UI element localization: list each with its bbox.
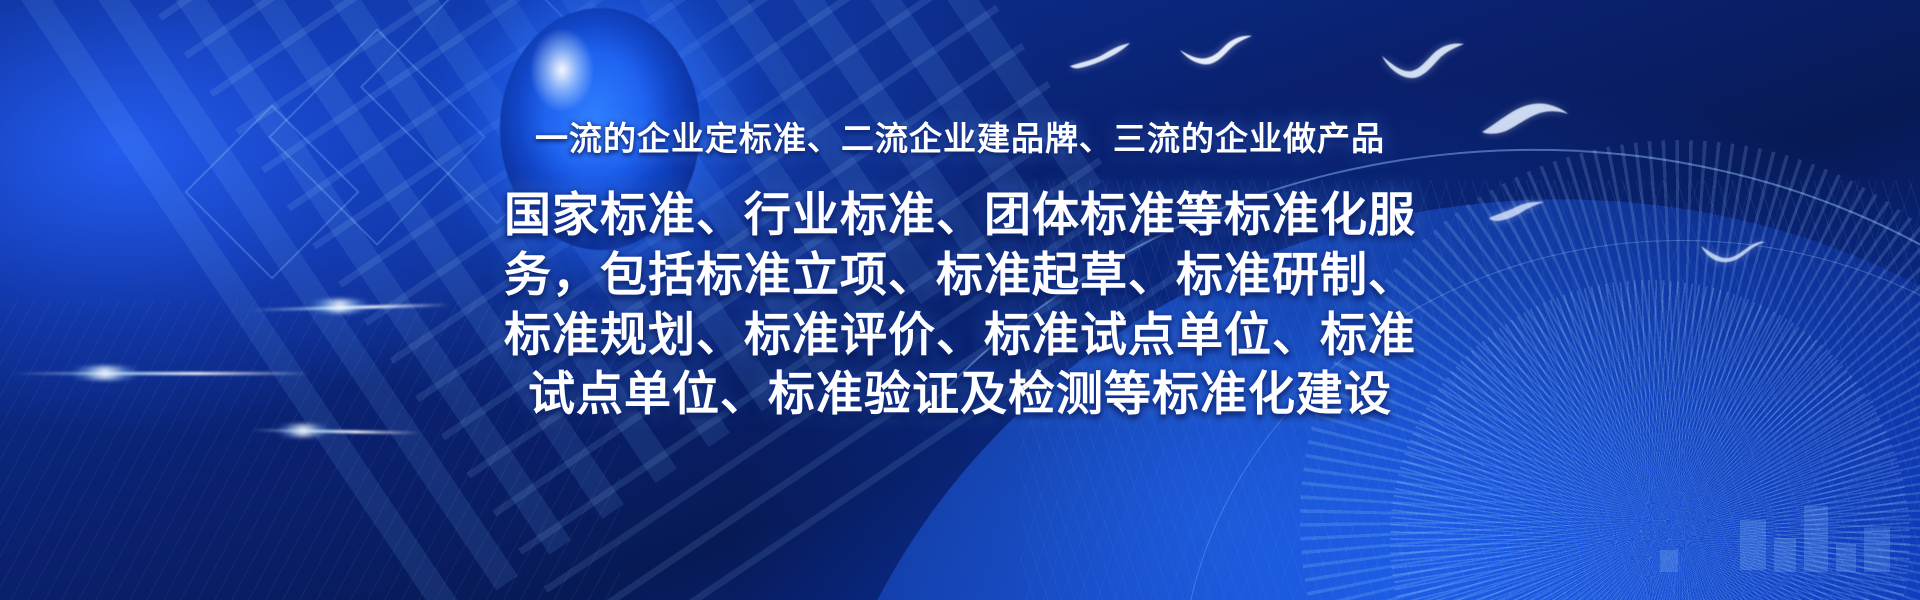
headline-line: 标准规划、标准评价、标准试点单位、标准 [430, 305, 1490, 365]
banner-headline: 国家标准、行业标准、团体标准等标准化服 务，包括标准立项、标准起草、标准研制、 … [430, 185, 1490, 424]
banner-tagline: 一流的企业定标准、二流企业建品牌、三流的企业做产品 [535, 118, 1385, 159]
headline-line: 务，包括标准立项、标准起草、标准研制、 [430, 245, 1490, 305]
promo-banner: 一流的企业定标准、二流企业建品牌、三流的企业做产品 国家标准、行业标准、团体标准… [0, 0, 1920, 600]
headline-line: 试点单位、标准验证及检测等标准化建设 [430, 364, 1490, 424]
banner-content: 一流的企业定标准、二流企业建品牌、三流的企业做产品 国家标准、行业标准、团体标准… [0, 0, 1920, 600]
headline-line: 国家标准、行业标准、团体标准等标准化服 [430, 185, 1490, 245]
